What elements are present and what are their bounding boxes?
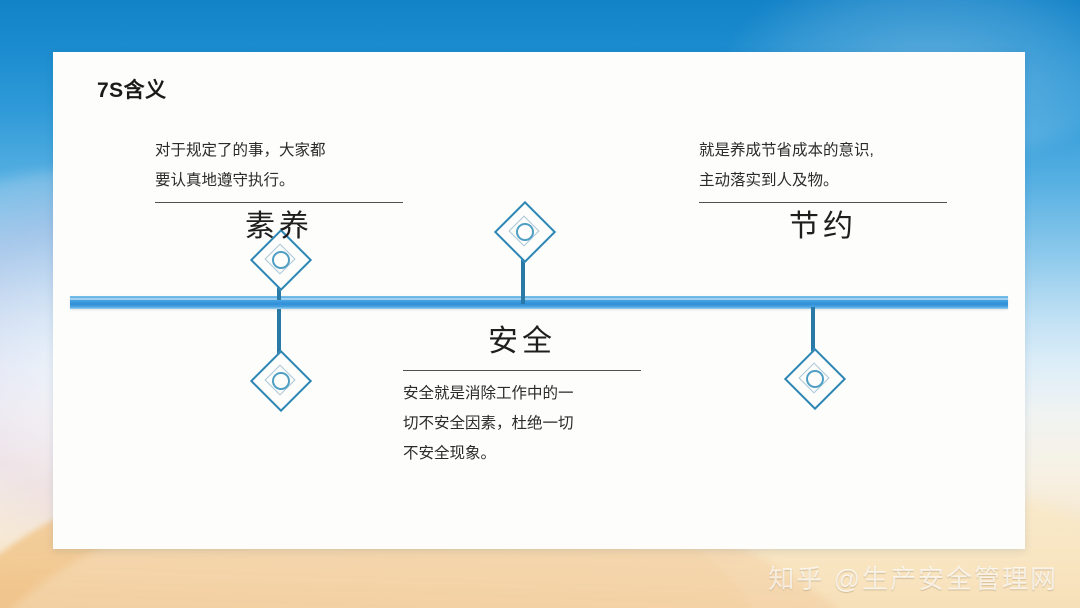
diamond-node-icon[interactable] [787, 351, 839, 403]
diamond-center-circle-icon [272, 372, 290, 390]
content-card: 7S含义 对于规定了的事，大家都 要认真地遵守执行。 素养 [53, 52, 1025, 549]
diamond-center-circle-icon [806, 370, 824, 388]
slide-canvas: 7S含义 对于规定了的事，大家都 要认真地遵守执行。 素养 [0, 0, 1080, 608]
node-description-suyang: 对于规定了的事，大家都 要认真地遵守执行。 [155, 136, 403, 196]
node-description-anquan: 安全就是消除工作中的一 切不安全因素，杜绝一切 不安全现象。 [403, 379, 641, 469]
timeline-node-marker-left-bottom [249, 309, 309, 405]
node-heading-jieyue: 节约 [699, 205, 947, 249]
node-text-block-suyang: 对于规定了的事，大家都 要认真地遵守执行。 素养 [155, 136, 403, 249]
node-divider [403, 370, 641, 371]
diamond-center-circle-icon [272, 251, 290, 269]
timeline-node-jieyue [783, 307, 843, 403]
diamond-center-circle-icon [516, 223, 534, 241]
node-divider [155, 202, 403, 203]
node-divider [699, 202, 947, 203]
diamond-node-icon[interactable] [497, 204, 549, 256]
node-heading-anquan: 安全 [403, 320, 641, 364]
node-text-block-jieyue: 就是养成节省成本的意识, 主动落实到人及物。 节约 [699, 136, 947, 249]
page-title: 7S含义 [97, 74, 167, 104]
node-heading-suyang: 素养 [155, 205, 403, 249]
node-description-jieyue: 就是养成节省成本的意识, 主动落实到人及物。 [699, 136, 947, 196]
timeline-node-anquan [493, 204, 553, 300]
node-text-block-anquan: 安全 安全就是消除工作中的一 切不安全因素，杜绝一切 不安全现象。 [403, 320, 641, 469]
diamond-node-icon[interactable] [253, 353, 305, 405]
